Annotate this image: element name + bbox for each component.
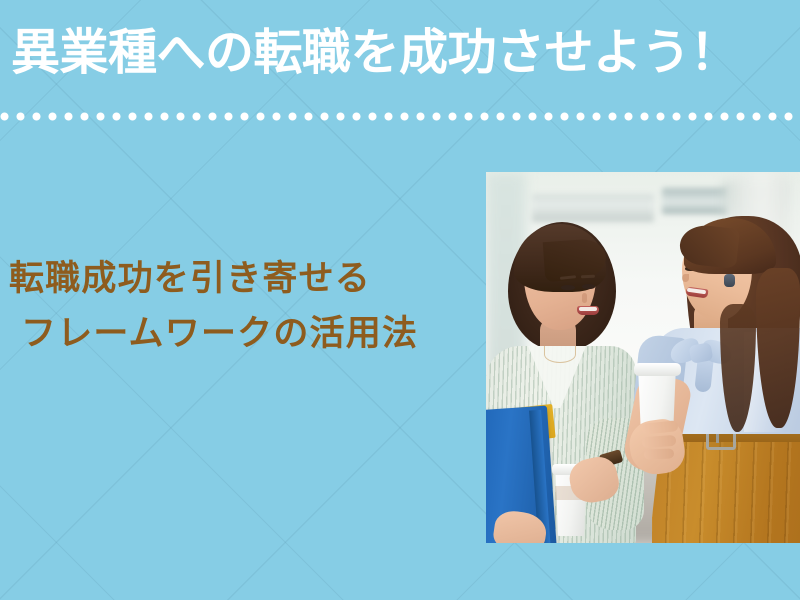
right-woman-cup-lid (634, 363, 681, 376)
dotted-divider (0, 112, 800, 121)
left-woman-eye-right (582, 284, 595, 289)
right-woman-figure (624, 208, 800, 543)
banner-root: 異業種への転職を成功させよう！ 転職成功を引き寄せる フレームワークの活用法 (0, 0, 800, 600)
right-woman-finger-2 (642, 435, 677, 448)
left-woman-teeth (579, 307, 597, 311)
hero-photo (486, 172, 800, 543)
banner-header: 異業種への転職を成功させよう！ (0, 0, 800, 130)
page-title-line-1: 転職成功を引き寄せる (9, 252, 479, 307)
photo-scene (486, 172, 800, 543)
page-title: 転職成功を引き寄せる フレームワークの活用法 (9, 252, 479, 362)
right-woman-finger-3 (644, 448, 674, 459)
left-woman-eye-left (561, 285, 575, 290)
header-title: 異業種への転職を成功させよう！ (11, 22, 793, 84)
left-woman-nose (582, 293, 587, 303)
right-woman-nose (682, 274, 689, 282)
right-woman-earbud (724, 274, 735, 287)
left-woman-necklace (544, 346, 576, 363)
page-title-line-2: フレームワークの活用法 (9, 307, 479, 362)
